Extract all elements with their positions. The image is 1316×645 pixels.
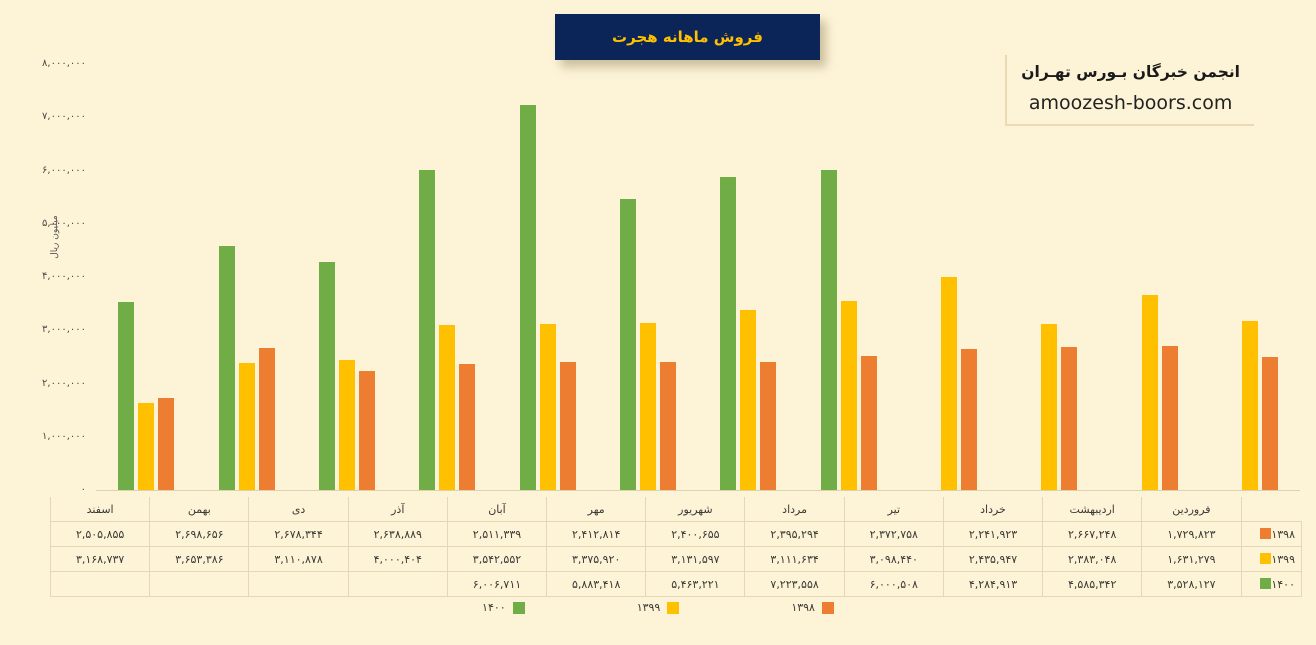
- bar-group-7: [798, 64, 898, 490]
- table-row: ۱۳۹۸۱,۷۲۹,۸۲۳۲,۶۶۷,۲۴۸۲,۲۴۱,۹۲۳۲,۳۷۲,۷۵۸…: [51, 522, 1302, 547]
- bar-3-series-2: [419, 170, 435, 490]
- bar-group-3: [397, 64, 497, 490]
- brand-name: انجمن خبرگان بـورس تهـران: [1021, 63, 1240, 81]
- table-cell-0-6: ۲,۴۱۲,۸۱۴: [547, 522, 646, 547]
- table-cell-1-9: ۳,۱۱۰,۸۷۸: [249, 547, 348, 572]
- table-column-header-11: اسفند: [51, 497, 150, 522]
- table-series-label-0: ۱۳۹۸: [1241, 522, 1302, 547]
- brand-url: amoozesh-boors.com: [1021, 92, 1240, 114]
- table-cell-0-1: ۲,۶۶۷,۲۴۸: [1043, 522, 1142, 547]
- bar-7-series-1: [841, 301, 857, 490]
- bar-10-series-0: [1162, 346, 1178, 490]
- bar-7-series-2: [821, 170, 837, 490]
- chart-title-banner: فروش ماهانه هجرت: [555, 14, 820, 60]
- table-cell-2-8: [348, 572, 447, 597]
- table-column-header-8: آذر: [348, 497, 447, 522]
- bar-6-series-1: [740, 310, 756, 490]
- table-column-header-5: شهریور: [646, 497, 745, 522]
- table-cell-2-10: [150, 572, 249, 597]
- legend-label-0: ۱۳۹۸: [791, 601, 815, 614]
- table-cell-2-2: ۴,۲۸۴,۹۱۳: [943, 572, 1042, 597]
- bar-group-10: [1099, 64, 1199, 490]
- bar-11-series-1: [1242, 321, 1258, 490]
- bar-6-series-0: [760, 362, 776, 490]
- bar-2-series-1: [339, 360, 355, 490]
- y-axis-tick-5: ۵,۰۰۰,۰۰۰: [0, 219, 86, 229]
- table-column-header-7: آبان: [447, 497, 546, 522]
- bar-2-series-0: [359, 371, 375, 490]
- y-axis-tick-1: ۱,۰۰۰,۰۰۰: [0, 432, 86, 442]
- table-corner-cell: [1241, 497, 1302, 522]
- y-axis-tick-0: ۰: [0, 485, 86, 495]
- bar-1-series-0: [259, 348, 275, 490]
- y-axis-tick-7: ۷,۰۰۰,۰۰۰: [0, 112, 86, 122]
- table-column-header-3: تیر: [844, 497, 943, 522]
- series-swatch-icon-2: [1260, 578, 1271, 589]
- table-cell-1-6: ۳,۳۷۵,۹۲۰: [547, 547, 646, 572]
- table-row: ۱۳۹۹۱,۶۳۱,۲۷۹۲,۳۸۳,۰۴۸۲,۴۳۵,۹۴۷۳,۰۹۸,۴۴۰…: [51, 547, 1302, 572]
- table-cell-1-0: ۱,۶۳۱,۲۷۹: [1142, 547, 1241, 572]
- y-axis-tick-4: ۴,۰۰۰,۰۰۰: [0, 272, 86, 282]
- table-column-header-6: مهر: [547, 497, 646, 522]
- series-name-0: ۱۳۹۸: [1271, 528, 1295, 541]
- table-cell-0-7: ۲,۵۱۱,۳۳۹: [447, 522, 546, 547]
- table-cell-2-0: ۳,۵۲۸,۱۲۷: [1142, 572, 1241, 597]
- table-header-row: فروردیناردیبهشتخردادتیرمردادشهریورمهرآبا…: [51, 497, 1302, 522]
- table-cell-2-6: ۵,۸۸۳,۴۱۸: [547, 572, 646, 597]
- bars-plot-area: [96, 64, 1300, 490]
- series-swatch-icon-0: [1260, 528, 1271, 539]
- table-cell-2-11: [51, 572, 150, 597]
- table-column-header-2: خرداد: [943, 497, 1042, 522]
- table-cell-0-8: ۲,۶۳۸,۸۸۹: [348, 522, 447, 547]
- chart-legend: ۱۳۹۸۱۳۹۹۱۴۰۰: [0, 601, 1316, 614]
- bar-5-series-1: [640, 323, 656, 490]
- table-cell-2-5: ۵,۴۶۳,۲۲۱: [646, 572, 745, 597]
- table-cell-1-3: ۳,۰۹۸,۴۴۰: [844, 547, 943, 572]
- bar-group-11: [1200, 64, 1300, 490]
- table-cell-0-4: ۲,۳۹۵,۲۹۴: [745, 522, 844, 547]
- bar-4-series-2: [520, 105, 536, 490]
- table-cell-0-0: ۱,۷۲۹,۸۲۳: [1142, 522, 1241, 547]
- bar-8-series-1: [941, 277, 957, 490]
- table-cell-1-10: ۳,۶۵۳,۳۸۶: [150, 547, 249, 572]
- table-column-header-1: اردیبهشت: [1043, 497, 1142, 522]
- bar-3-series-1: [439, 325, 455, 490]
- bar-group-1: [196, 64, 296, 490]
- bar-8-series-0: [961, 349, 977, 490]
- y-axis-title: میلیون ریال: [50, 192, 60, 282]
- bar-6-series-2: [720, 177, 736, 490]
- brand-block: انجمن خبرگان بـورس تهـران amoozesh-boors…: [1005, 55, 1254, 126]
- bar-7-series-0: [861, 356, 877, 490]
- legend-swatch-icon-2: [513, 602, 525, 614]
- bar-9-series-0: [1061, 347, 1077, 490]
- table-cell-1-7: ۳,۵۴۲,۵۵۲: [447, 547, 546, 572]
- table-cell-1-8: ۴,۰۰۰,۴۰۴: [348, 547, 447, 572]
- table-cell-2-3: ۶,۰۰۰,۵۰۸: [844, 572, 943, 597]
- bar-group-9: [999, 64, 1099, 490]
- y-axis-tick-2: ۲,۰۰۰,۰۰۰: [0, 379, 86, 389]
- bar-4-series-1: [540, 324, 556, 490]
- bar-3-series-0: [459, 364, 475, 490]
- bar-4-series-0: [560, 362, 576, 490]
- legend-swatch-icon-0: [822, 602, 834, 614]
- bar-group-8: [899, 64, 999, 490]
- bar-group-6: [698, 64, 798, 490]
- series-swatch-icon-1: [1260, 553, 1271, 564]
- table-series-label-2: ۱۴۰۰: [1241, 572, 1302, 597]
- bar-group-2: [297, 64, 397, 490]
- table-cell-1-1: ۲,۳۸۳,۰۴۸: [1043, 547, 1142, 572]
- table-cell-0-10: ۲,۶۹۸,۶۵۶: [150, 522, 249, 547]
- legend-label-2: ۱۴۰۰: [482, 601, 506, 614]
- bar-group-4: [497, 64, 597, 490]
- table-series-label-1: ۱۳۹۹: [1241, 547, 1302, 572]
- table-cell-0-5: ۲,۴۰۰,۶۵۵: [646, 522, 745, 547]
- bar-0-series-0: [158, 398, 174, 490]
- bar-10-series-1: [1142, 295, 1158, 490]
- x-axis-baseline: [96, 490, 1300, 491]
- table-column-header-9: دی: [249, 497, 348, 522]
- bar-11-series-0: [1262, 357, 1278, 490]
- bar-5-series-2: [620, 199, 636, 490]
- bar-group-0: [96, 64, 196, 490]
- y-axis-tick-8: ۸,۰۰۰,۰۰۰: [0, 59, 86, 69]
- table-cell-1-2: ۲,۴۳۵,۹۴۷: [943, 547, 1042, 572]
- legend-item-0: ۱۳۹۸: [791, 601, 834, 614]
- table-column-header-10: بهمن: [150, 497, 249, 522]
- table-cell-1-11: ۳,۱۶۸,۷۳۷: [51, 547, 150, 572]
- series-name-2: ۱۴۰۰: [1271, 578, 1295, 591]
- table-column-header-0: فروردین: [1142, 497, 1241, 522]
- bar-0-series-2: [118, 302, 134, 490]
- table-row: ۱۴۰۰۳,۵۲۸,۱۲۷۴,۵۸۵,۳۴۲۴,۲۸۴,۹۱۳۶,۰۰۰,۵۰۸…: [51, 572, 1302, 597]
- bar-5-series-0: [660, 362, 676, 490]
- bar-group-5: [598, 64, 698, 490]
- y-axis-tick-6: ۶,۰۰۰,۰۰۰: [0, 166, 86, 176]
- bar-1-series-1: [239, 363, 255, 490]
- series-name-1: ۱۳۹۹: [1271, 553, 1295, 566]
- table-cell-0-3: ۲,۳۷۲,۷۵۸: [844, 522, 943, 547]
- table-cell-2-9: [249, 572, 348, 597]
- table-cell-2-7: ۶,۰۰۶,۷۱۱: [447, 572, 546, 597]
- table-cell-2-1: ۴,۵۸۵,۳۴۲: [1043, 572, 1142, 597]
- chart-title-text: فروش ماهانه هجرت: [612, 28, 763, 46]
- table-cell-0-2: ۲,۲۴۱,۹۲۳: [943, 522, 1042, 547]
- bar-0-series-1: [138, 403, 154, 490]
- table-cell-1-5: ۳,۱۳۱,۵۹۷: [646, 547, 745, 572]
- data-table: فروردیناردیبهشتخردادتیرمردادشهریورمهرآبا…: [50, 497, 1302, 597]
- table-cell-1-4: ۳,۱۱۱,۶۳۴: [745, 547, 844, 572]
- legend-item-1: ۱۳۹۹: [637, 601, 680, 614]
- y-axis-tick-3: ۳,۰۰۰,۰۰۰: [0, 325, 86, 335]
- bar-1-series-2: [219, 246, 235, 490]
- table-cell-0-9: ۲,۶۷۸,۳۴۴: [249, 522, 348, 547]
- legend-swatch-icon-1: [667, 602, 679, 614]
- legend-item-2: ۱۴۰۰: [482, 601, 525, 614]
- table-cell-2-4: ۷,۲۲۳,۵۵۸: [745, 572, 844, 597]
- bar-2-series-2: [319, 262, 335, 490]
- bar-9-series-1: [1041, 324, 1057, 490]
- legend-label-1: ۱۳۹۹: [637, 601, 661, 614]
- table-column-header-4: مرداد: [745, 497, 844, 522]
- table-cell-0-11: ۲,۵۰۵,۸۵۵: [51, 522, 150, 547]
